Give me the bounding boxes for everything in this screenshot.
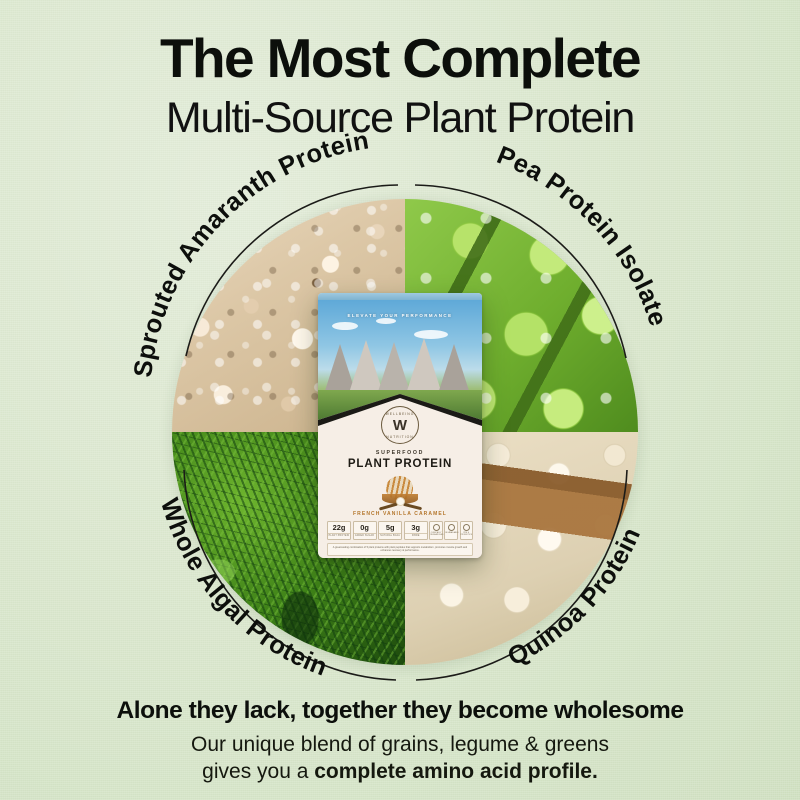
pouch-label-body: WELLBEING W NUTRITION SUPERFOOD PLANT PR… [318,394,482,558]
nutrition-value: 0g [354,524,376,531]
brand-monogram: W [393,418,407,433]
certification-badge: BIOAVAILABLE [444,521,458,540]
nutrition-cell: 22g PLANT PROTEIN [327,521,351,540]
dessert-illustration [377,474,423,508]
vanilla-pod-icon [379,502,398,510]
product-name: PLANT PROTEIN [327,458,473,470]
pouch-top-seal [318,293,482,300]
product-eyebrow: SUPERFOOD [327,450,473,456]
badge-label: PRE & PROBIOTICS [461,532,473,536]
circle-label-algae: Whole Algal Protein [155,495,331,682]
circle-label-pea: Pea Protein Isolate [493,141,672,330]
nutrition-row: 22g PLANT PROTEIN 0g ADDED SUGAR 5g NATU… [327,521,473,540]
circle-label-pea-text: Pea Protein Isolate [493,141,672,330]
certification-badge: CLINICALLY RESEARCHED [429,521,443,540]
nutrition-label: PLANT PROTEIN [328,533,350,537]
cloud-icon [376,318,396,324]
nutrition-cell: 0g ADDED SUGAR [353,521,377,540]
nutrition-cell: 3g FIBRE [404,521,428,540]
nutrition-value: 3g [405,524,427,531]
badge-label: CLINICALLY RESEARCHED [430,532,442,536]
seal-icon [463,524,470,531]
nutrition-cell: 5g NATURAL BCAA [378,521,402,540]
nutrition-value: 22g [328,524,350,531]
product-pouch[interactable]: ELEVATE YOUR PERFORMANCE WELLBEING W NUT… [318,293,482,558]
nutrition-label: ADDED SUGAR [354,533,376,537]
circle-label-algae-text: Whole Algal Protein [155,495,331,682]
certification-badge: PRE & PROBIOTICS [460,521,474,540]
vanilla-pod-icon [403,503,422,511]
badge-label: BIOAVAILABLE [445,532,457,534]
brand-arc-bottom: NUTRITION [382,435,418,439]
circle-label-quinoa: Quinoa Protein [503,523,646,671]
seal-icon [433,524,440,531]
brand-arc-top: WELLBEING [382,412,418,416]
circle-label-quinoa-text: Quinoa Protein [503,523,646,671]
nutrition-value: 5g [379,524,401,531]
nutrition-label: FIBRE [405,533,427,537]
product-flavor: FRENCH VANILLA CARAMEL [327,511,473,517]
vanilla-flower-icon [396,497,405,506]
pouch-tagline: ELEVATE YOUR PERFORMANCE [318,313,482,318]
cloud-icon [332,322,358,330]
infographic-canvas: The Most Complete Multi-Source Plant Pro… [0,0,800,800]
nutrition-label: NATURAL BCAA [379,533,401,537]
seal-icon [448,524,455,531]
product-claim: A great-tasting combination of 5 plant p… [327,543,473,556]
brand-logo: WELLBEING W NUTRITION [381,406,419,444]
